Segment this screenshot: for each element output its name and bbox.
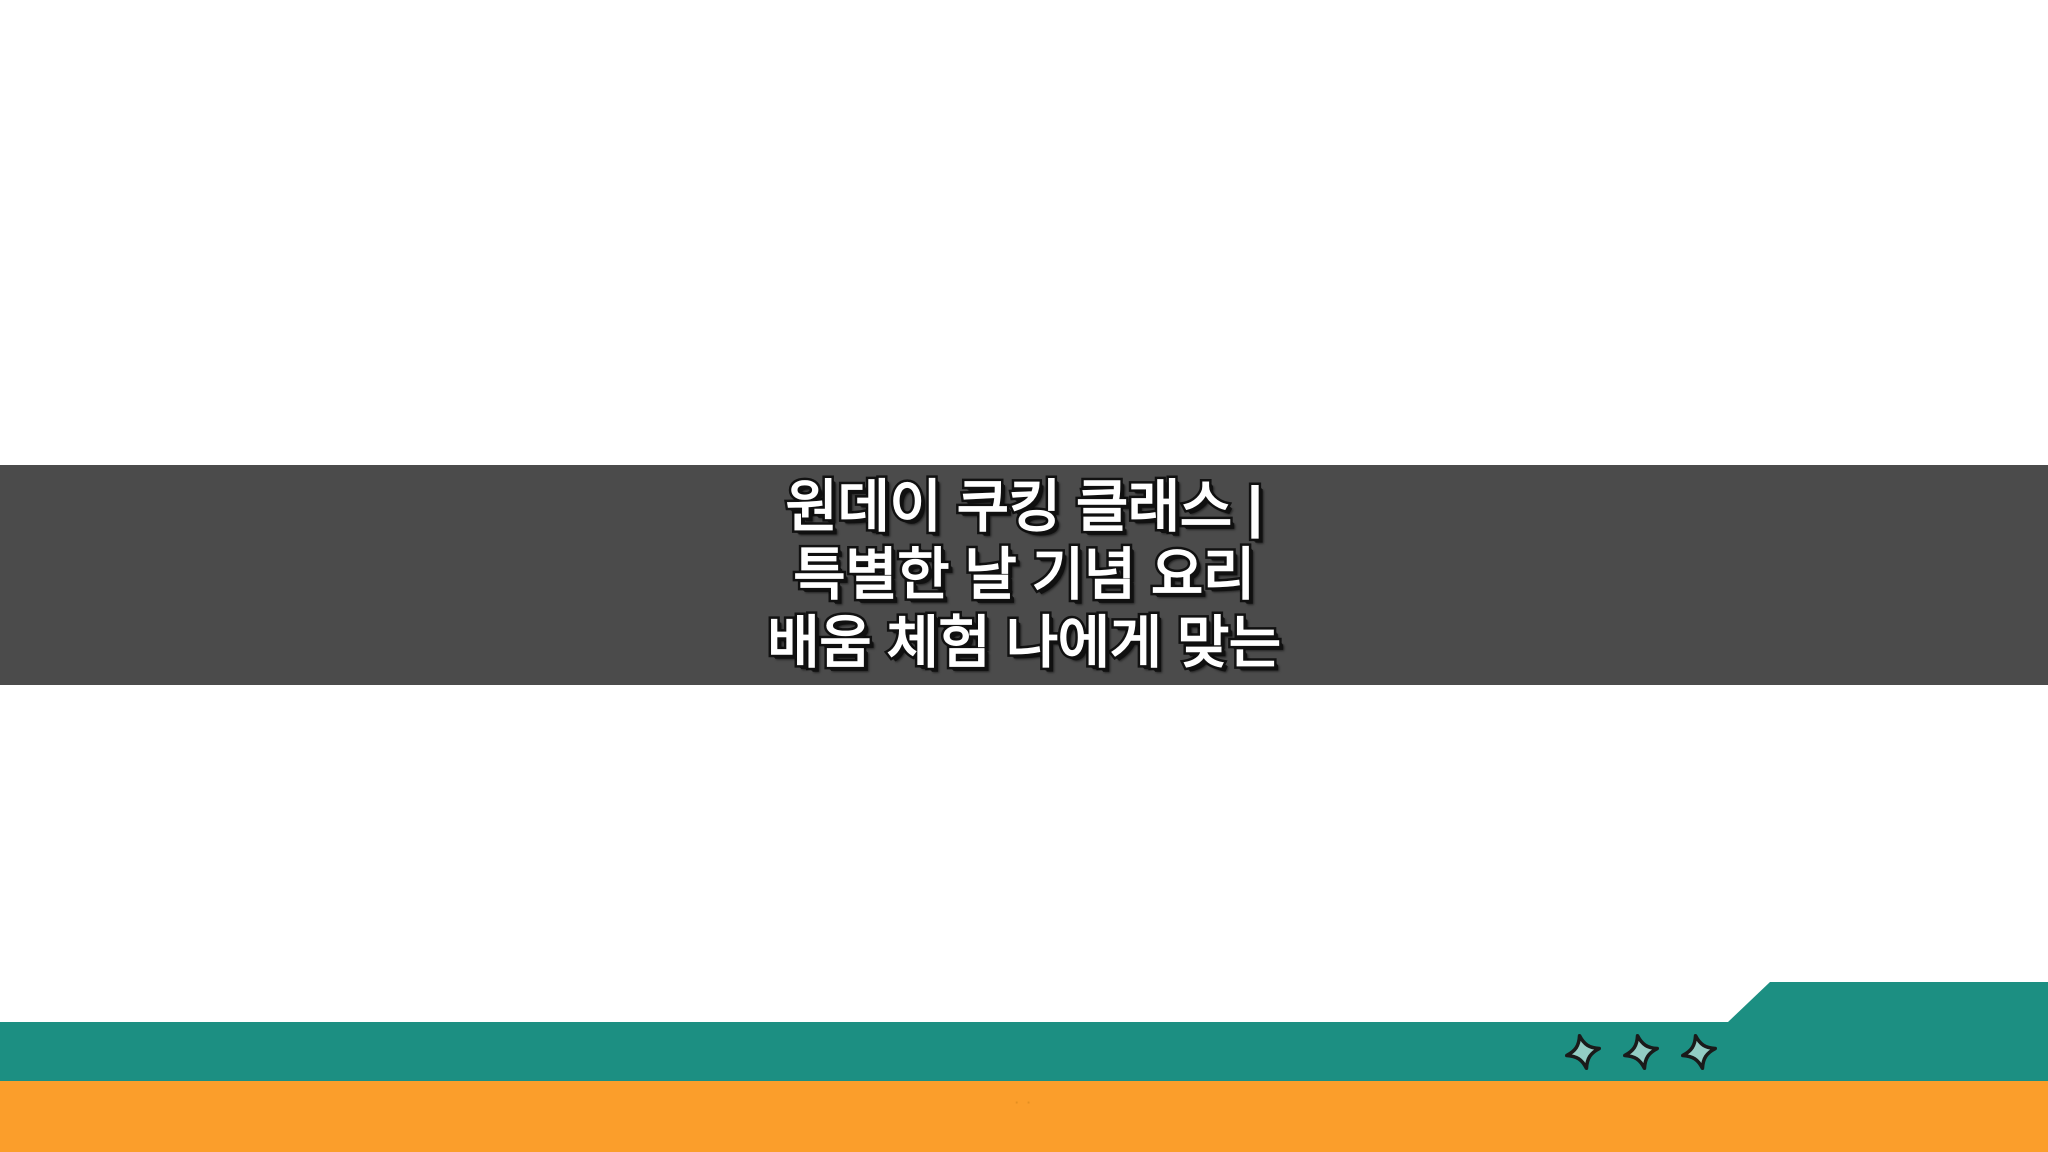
sparkle-icon-1: [1562, 1031, 1604, 1073]
footer-teal-tab: [1728, 982, 2048, 1081]
screenshot-root: 원데이 쿠킹 클래스 | 특별한 날 기념 요리 배움 체험 나에게 맞는 · …: [0, 0, 2048, 1152]
footer-orange-band: · ·: [0, 1081, 2048, 1152]
sparkle-icon-2: [1620, 1031, 1662, 1073]
title-line-1: 원데이 쿠킹 클래스 |: [786, 473, 1263, 541]
title-line-2: 특별한 날 기념 요리: [793, 541, 1255, 609]
canvas-top-area: [0, 0, 2048, 465]
title-banner: 원데이 쿠킹 클래스 | 특별한 날 기념 요리 배움 체험 나에게 맞는: [0, 465, 2048, 685]
footer-orange-faint-text: · ·: [0, 1095, 2048, 1110]
sparkle-icon-3: [1678, 1031, 1720, 1073]
footer-sparkle-row: [1562, 1030, 1722, 1074]
title-line-3: 배움 체험 나에게 맞는: [767, 609, 1280, 677]
canvas-middle-area: [0, 685, 2048, 1022]
